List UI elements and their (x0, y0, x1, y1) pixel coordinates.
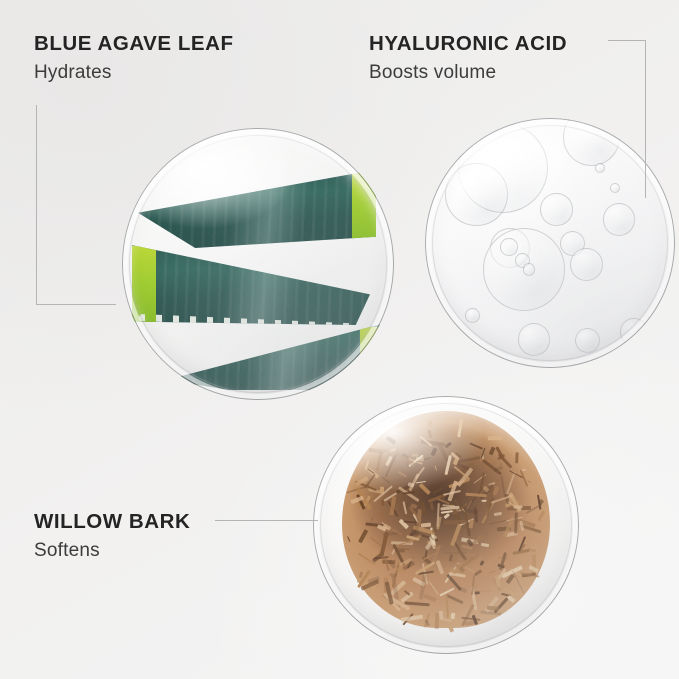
gel-bubble (603, 203, 636, 236)
annotation-title: BLUE AGAVE LEAF (34, 32, 234, 56)
gel-bubble (620, 318, 648, 346)
gel-bubble (575, 328, 600, 353)
bark-chip (488, 436, 502, 440)
bark-chip (430, 502, 434, 509)
petri-dish-blue-agave-leaf (122, 128, 394, 400)
gel-bubble (523, 263, 536, 276)
gel-bubble (570, 248, 603, 281)
annotation-title: WILLOW BARK (34, 510, 190, 534)
annotation-willow-bark: WILLOW BARK Softens (34, 510, 190, 563)
annotation-blue-agave-leaf: BLUE AGAVE LEAF Hydrates (34, 32, 234, 85)
connector-line-hyaluronic-acid (608, 40, 646, 198)
annotation-hyaluronic-acid: HYALURONIC ACID Boosts volume (369, 32, 567, 85)
annotation-subtitle: Softens (34, 539, 190, 563)
annotation-subtitle: Boosts volume (369, 61, 567, 85)
connector-segment-horizontal (215, 520, 318, 521)
connector-line-willow-bark (215, 520, 318, 521)
connector-segment-horizontal (36, 304, 116, 305)
connector-segment-vertical (645, 40, 646, 198)
connector-line-blue-agave-leaf (36, 105, 116, 305)
bark-chip (408, 482, 415, 487)
bark-chip (434, 613, 439, 629)
gel-bubble (500, 238, 518, 256)
gel-bubble (518, 323, 551, 356)
bark-chip (515, 453, 519, 464)
gel-bubble (540, 193, 573, 226)
connector-segment-vertical (36, 105, 37, 304)
annotation-subtitle: Hydrates (34, 61, 234, 85)
gel-bubble (465, 308, 480, 323)
bark-chip (443, 519, 466, 524)
bark-chip (412, 453, 418, 456)
petri-dish-willow-bark (313, 396, 579, 654)
gel-bubble (595, 163, 605, 173)
leaf-lime-edge (360, 326, 386, 400)
annotation-title: HYALURONIC ACID (369, 32, 567, 56)
connector-segment-horizontal (608, 40, 646, 41)
gel-bubble (445, 163, 508, 226)
bark-chip (389, 573, 396, 576)
